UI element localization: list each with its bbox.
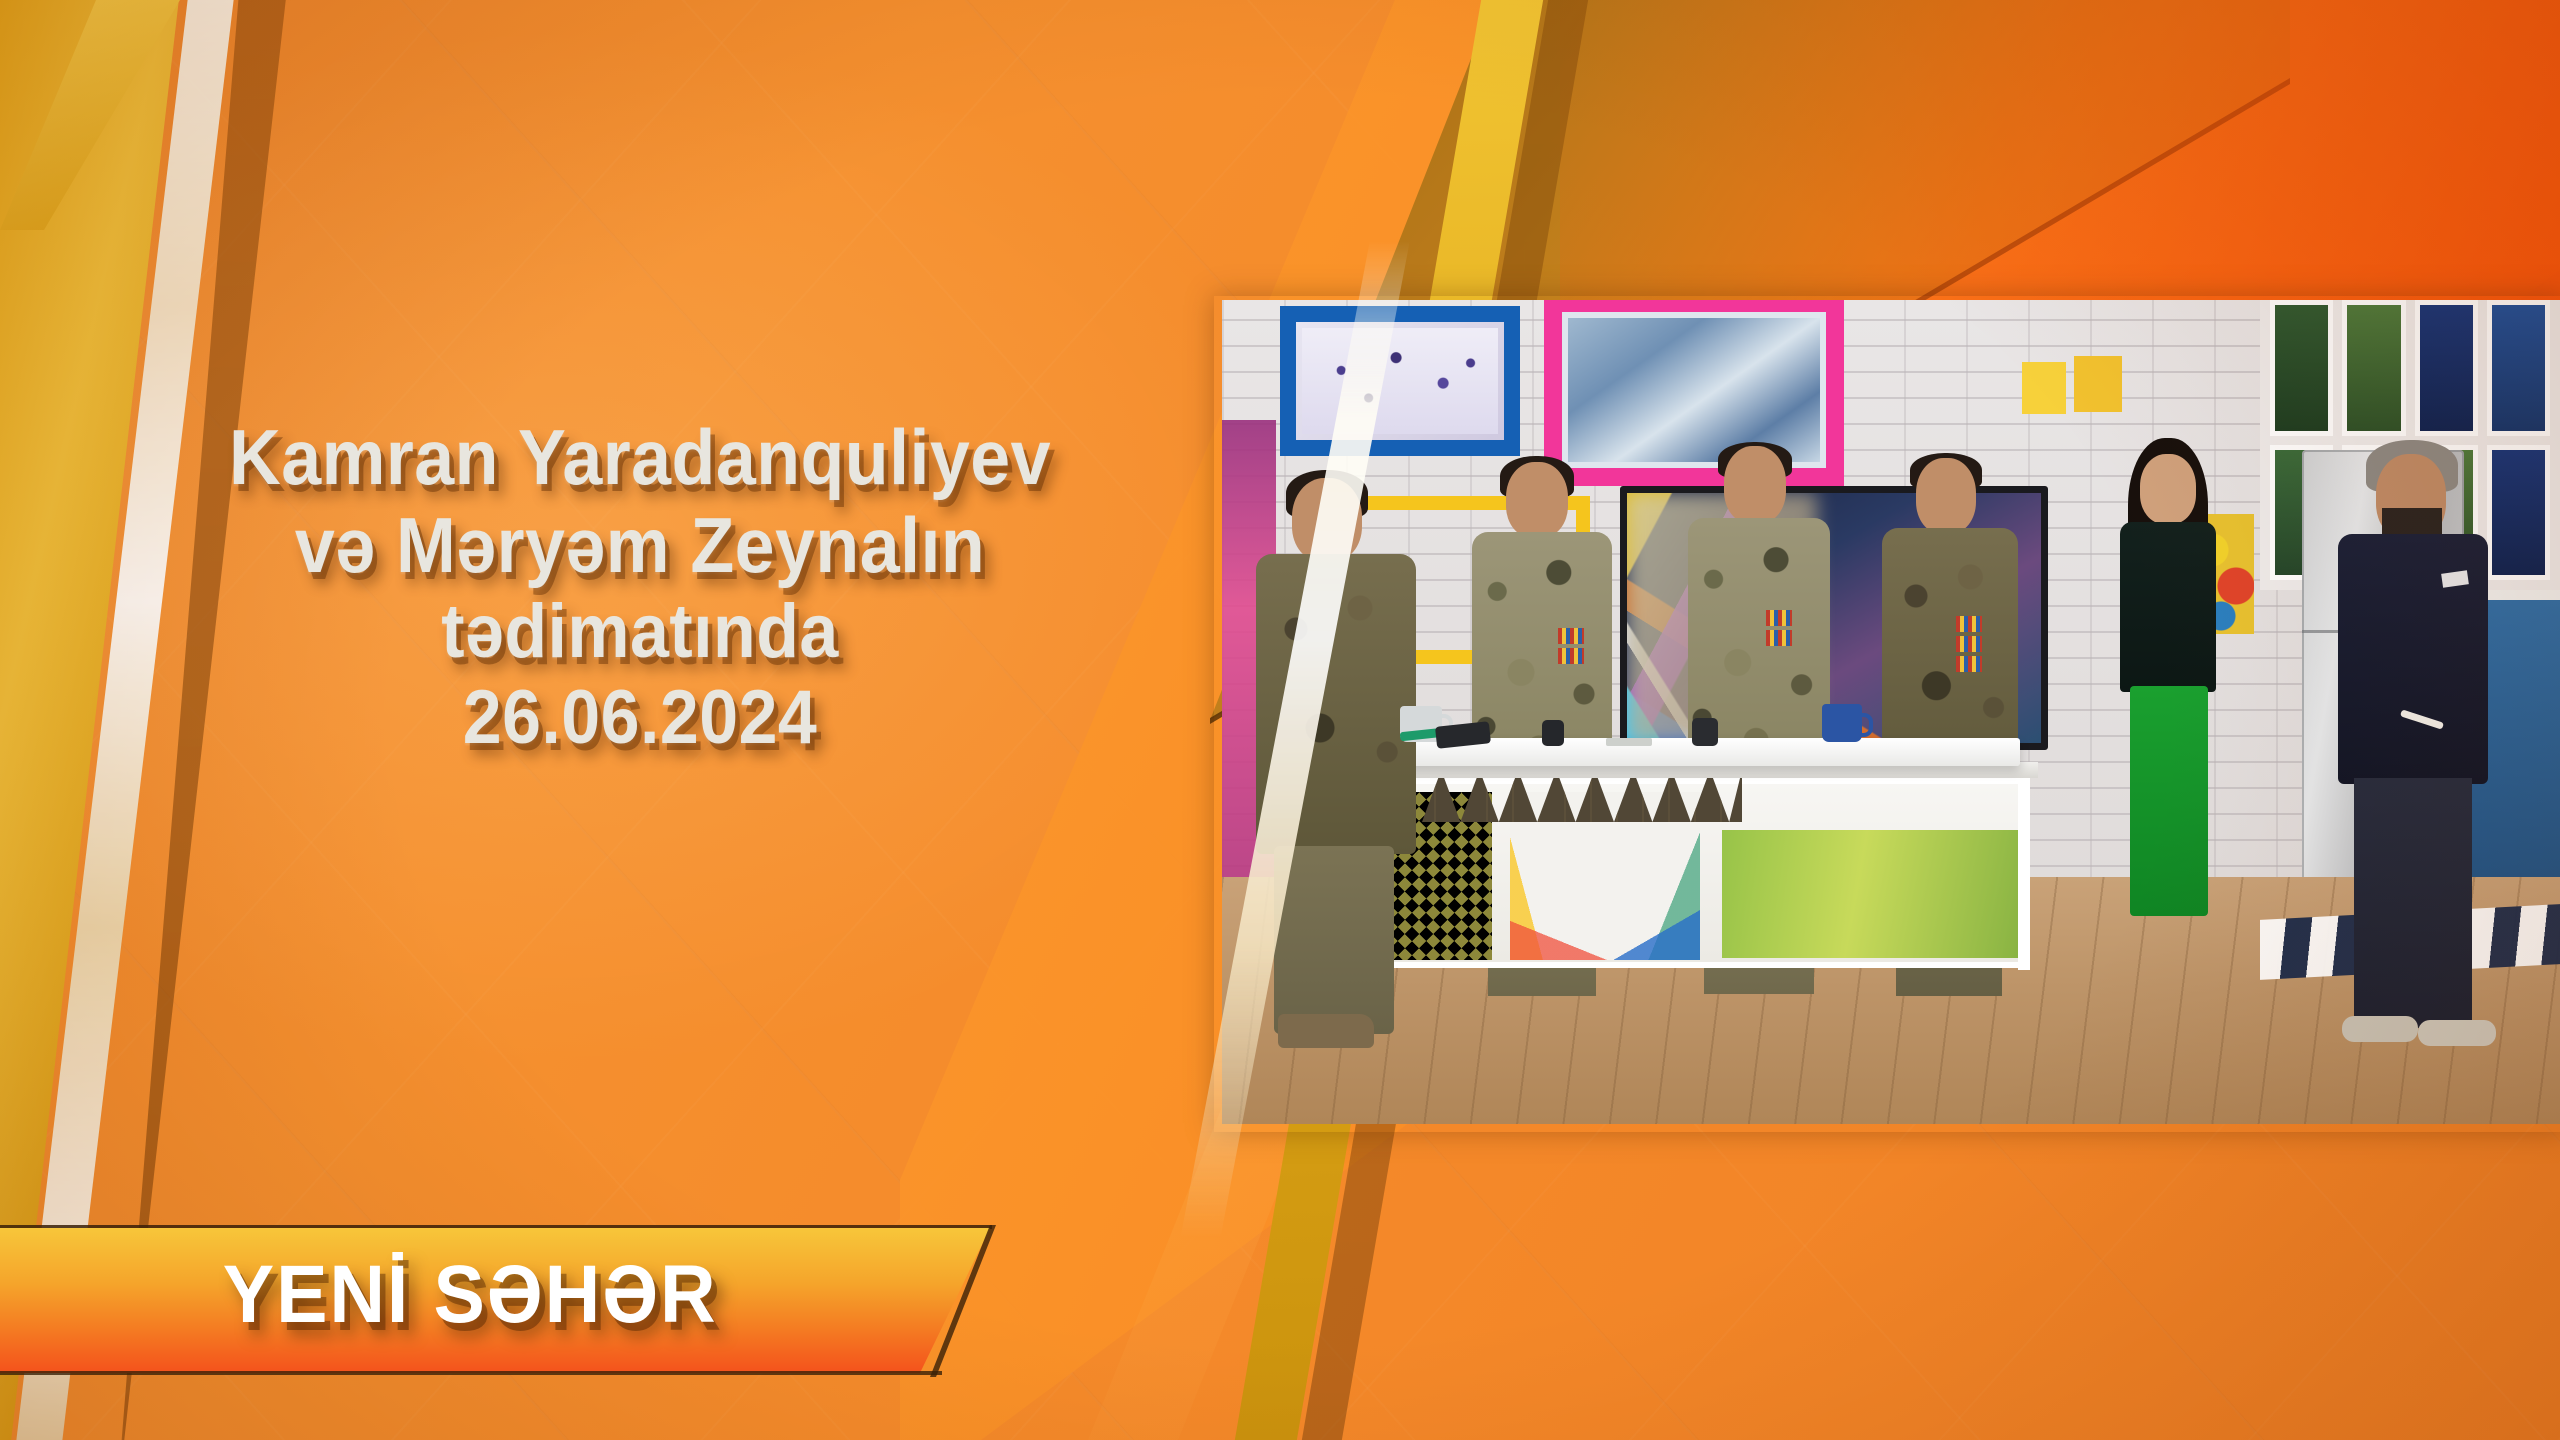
thumbnail-canvas: Kamran Yaradanquliyev və Məryəm Zeynalın…	[0, 0, 2560, 1440]
program-banner-bottom-edge	[0, 1371, 942, 1375]
headline-block: Kamran Yaradanquliyev və Məryəm Zeynalın…	[120, 418, 1160, 766]
program-name-label: YENİ SƏHƏR	[223, 1248, 718, 1342]
headline-line-1: Kamran Yaradanquliyev	[162, 418, 1119, 496]
program-banner-text-wrap: YENİ SƏHƏR	[0, 1248, 940, 1342]
headline-line-2: və Məryəm Zeynalın	[162, 506, 1119, 584]
headline-line-3: tədimatında	[162, 594, 1119, 670]
headline-date: 26.06.2024	[162, 680, 1119, 756]
